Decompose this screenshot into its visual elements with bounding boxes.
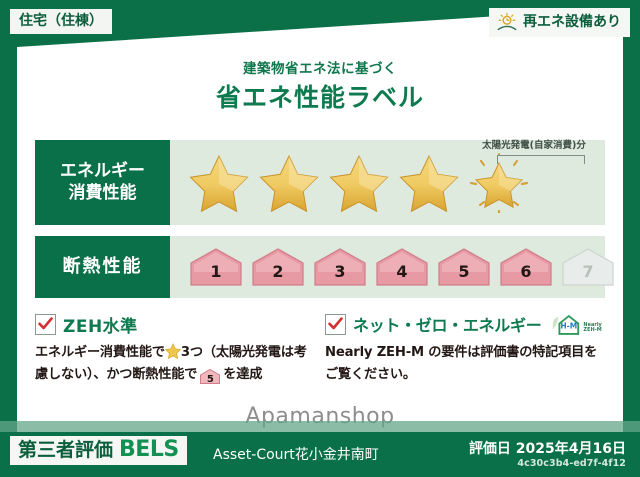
insulation-grade-3: 3 — [312, 246, 368, 288]
net-zero-energy-title: ネット・ゼロ・エネルギー — [353, 312, 541, 336]
zeh-desc-part1: エネルギー消費性能で — [35, 345, 165, 360]
footer-fade-strip — [0, 421, 640, 432]
label-title: 省エネ性能ラベル — [17, 78, 623, 114]
label-subtitle: 建築物省エネ法に基づく — [17, 57, 623, 77]
evaluation-id: 4c30c3b4-ed7f-4f12 — [517, 458, 626, 469]
insulation-grade-5-value: 5 — [458, 262, 469, 288]
inline-star-icon — [165, 343, 181, 359]
footer-bar: 第三者評価 BELS Asset-Court花小金井南町 評価日 2025年4月… — [0, 432, 640, 477]
insulation-grade-3-value: 3 — [334, 262, 345, 288]
insulation-grade-4: 4 — [374, 246, 430, 288]
zeh-m-logo-caption: Nearly ZEH-M — [583, 323, 601, 337]
zeh-m-house-icon: H-M — [550, 312, 582, 337]
zeh-standard-header: ZEH水準 — [35, 312, 315, 336]
energy-label-line2: 消費性能 — [69, 183, 137, 204]
insulation-grade-5: 5 — [436, 246, 492, 288]
zeh-standard-block: ZEH水準 エネルギー消費性能で3つ（太陽光発電は考慮しない）、かつ断熱性能で5… — [35, 312, 315, 386]
energy-performance-label: 住宅（住棟） 再エネ設備あり 建築物省エネ法に基づく 省エネ性能ラベル エネルギ… — [0, 0, 640, 477]
star-icon-2 — [258, 153, 320, 213]
insulation-grade-2: 2 — [250, 246, 306, 288]
insulation-row-label: 断熱性能 — [35, 236, 170, 298]
zeh-m-caption-line2: ZEH-M — [583, 327, 601, 333]
insulation-grade-4-value: 4 — [396, 262, 407, 288]
energy-performance-row-label: エネルギー 消費性能 — [35, 140, 170, 225]
bels-jp-label: 第三者評価 — [18, 441, 113, 460]
insulation-grade-scale: 1 2 3 4 5 — [170, 246, 616, 288]
energy-performance-row-value: 太陽光発電(自家消費)分 — [170, 140, 605, 225]
inline-grade-value: 5 — [199, 368, 221, 389]
zeh-standard-title: ZEH水準 — [63, 312, 138, 337]
building-name: Asset-Court花小金井南町 — [213, 444, 379, 464]
renewable-equipment-tag: 再エネ設備あり — [489, 8, 630, 37]
insulation-grade-7-value: 7 — [582, 262, 593, 288]
insulation-grade-6: 6 — [498, 246, 554, 288]
housing-type-tag: 住宅（住棟） — [10, 9, 112, 34]
star-icon-1 — [188, 153, 250, 213]
renewable-tag-label: 再エネ設備あり — [523, 15, 621, 29]
insulation-grade-1: 1 — [188, 246, 244, 288]
bels-badge: 第三者評価 BELS — [10, 436, 187, 465]
insulation-grade-2-value: 2 — [272, 262, 283, 288]
inline-insulation-grade-badge: 5 — [199, 368, 221, 385]
insulation-grade-7: 7 — [560, 246, 616, 288]
star-icon-3 — [328, 153, 390, 213]
star-icon-4 — [398, 153, 460, 213]
star-rating — [170, 153, 530, 213]
solar-generation-note: 太陽光発電(自家消費)分 — [469, 141, 599, 151]
zeh-desc-part3: を達成 — [223, 367, 262, 382]
net-zero-energy-checkbox[interactable] — [325, 314, 346, 335]
zeh-standard-description: エネルギー消費性能で3つ（太陽光発電は考慮しない）、かつ断熱性能で5を達成 — [35, 342, 315, 386]
sun-solar-icon — [496, 12, 518, 32]
net-zero-energy-block: ネット・ゼロ・エネルギー H-M Nearly ZEH-M Nearly ZEH… — [325, 312, 605, 386]
energy-label-line1: エネルギー — [60, 161, 145, 182]
energy-performance-row: エネルギー 消費性能 — [35, 140, 605, 225]
net-zero-energy-header: ネット・ゼロ・エネルギー H-M Nearly ZEH-M — [325, 312, 605, 336]
insulation-row-value: 1 2 3 4 5 — [170, 236, 616, 298]
svg-text:H-M: H-M — [561, 321, 578, 330]
solar-note-bracket — [497, 155, 585, 164]
insulation-performance-row: 断熱性能 1 2 3 — [35, 236, 605, 298]
bels-en-label: BELS — [119, 439, 179, 461]
insulation-grade-1-value: 1 — [210, 262, 221, 288]
insulation-grade-6-value: 6 — [520, 262, 531, 288]
evaluation-date: 評価日 2025年4月16日 — [469, 438, 626, 458]
zeh-m-logo: H-M Nearly ZEH-M — [550, 312, 601, 337]
net-zero-energy-description: Nearly ZEH-M の要件は評価書の特記項目をご覧ください。 — [325, 342, 605, 386]
label-sheet-content: 建築物省エネ法に基づく 省エネ性能ラベル エネルギー 消費性能 — [17, 0, 623, 460]
zeh-standard-checkbox[interactable] — [35, 314, 56, 335]
